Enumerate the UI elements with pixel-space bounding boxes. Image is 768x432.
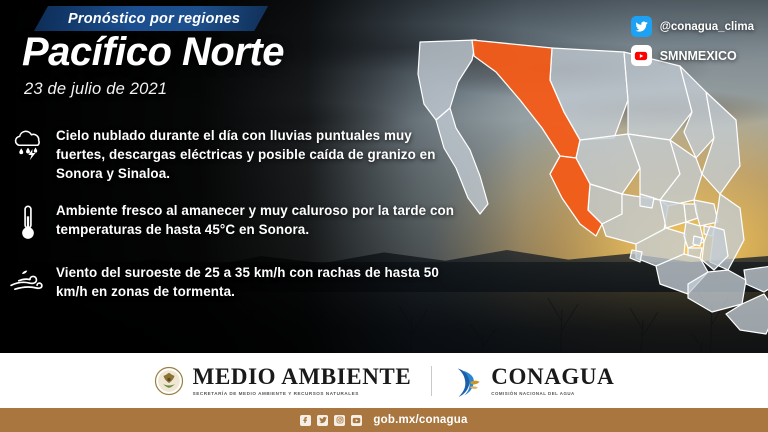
logo-divider bbox=[431, 366, 432, 396]
storm-cloud-rain-lightning-icon bbox=[0, 126, 56, 164]
youtube-handle-row[interactable]: SMNMEXICO bbox=[631, 45, 754, 66]
forecast-item-wind: Viento del suroeste de 25 a 35 km/h con … bbox=[0, 263, 470, 301]
infographic-canvas: Pronóstico por regiones Pacífico Norte 2… bbox=[0, 0, 768, 432]
social-handles: @conagua_clima SMNMEXICO bbox=[631, 16, 754, 66]
footer-url-label[interactable]: gob.mx/conagua bbox=[373, 414, 467, 426]
semarnat-title: MEDIO AMBIENTE bbox=[193, 365, 412, 388]
map-states-base bbox=[418, 40, 768, 334]
twitter-icon-footer[interactable] bbox=[317, 415, 328, 426]
conagua-logo: CONAGUA COMISIÓN NACIONAL DEL AGUA bbox=[452, 365, 614, 397]
youtube-icon-footer[interactable] bbox=[351, 415, 362, 426]
forecast-text-wind: Viento del suroeste de 25 a 35 km/h con … bbox=[56, 263, 470, 301]
thermometer-icon bbox=[0, 201, 56, 243]
banner-label: Pronóstico por regiones bbox=[68, 11, 240, 27]
instagram-icon[interactable] bbox=[334, 415, 345, 426]
forecast-item-temperature: Ambiente fresco al amanecer y muy caluro… bbox=[0, 201, 470, 243]
mexican-eagle-seal-icon bbox=[154, 366, 184, 396]
forecast-item-rain: Cielo nublado durante el día con lluvias… bbox=[0, 126, 470, 183]
conagua-subtitle: COMISIÓN NACIONAL DEL AGUA bbox=[491, 391, 614, 396]
forecast-list: Cielo nublado durante el día con lluvias… bbox=[0, 126, 470, 315]
semarnat-subtitle: SECRETARÍA DE MEDIO AMBIENTE Y RECURSOS … bbox=[193, 391, 412, 396]
wind-icon bbox=[0, 263, 56, 295]
footer-social-bar: gob.mx/conagua bbox=[0, 408, 768, 432]
facebook-icon[interactable] bbox=[300, 415, 311, 426]
forecast-text-rain: Cielo nublado durante el día con lluvias… bbox=[56, 126, 470, 183]
semarnat-logo: MEDIO AMBIENTE SECRETARÍA DE MEDIO AMBIE… bbox=[154, 365, 412, 396]
conagua-water-icon bbox=[452, 365, 482, 397]
youtube-handle-label: SMNMEXICO bbox=[660, 49, 737, 63]
page-title: Pacífico Norte bbox=[22, 30, 284, 75]
forecast-text-temperature: Ambiente fresco al amanecer y muy caluro… bbox=[56, 201, 470, 239]
banner-pronostico: Pronóstico por regiones bbox=[34, 6, 268, 31]
twitter-icon bbox=[631, 16, 652, 37]
conagua-title: CONAGUA bbox=[491, 365, 614, 388]
forecast-date: 23 de julio de 2021 bbox=[24, 80, 167, 99]
youtube-icon bbox=[631, 45, 652, 66]
twitter-handle-label: @conagua_clima bbox=[660, 21, 754, 33]
footer-logos: MEDIO AMBIENTE SECRETARÍA DE MEDIO AMBIE… bbox=[0, 353, 768, 408]
twitter-handle-row[interactable]: @conagua_clima bbox=[631, 16, 754, 37]
